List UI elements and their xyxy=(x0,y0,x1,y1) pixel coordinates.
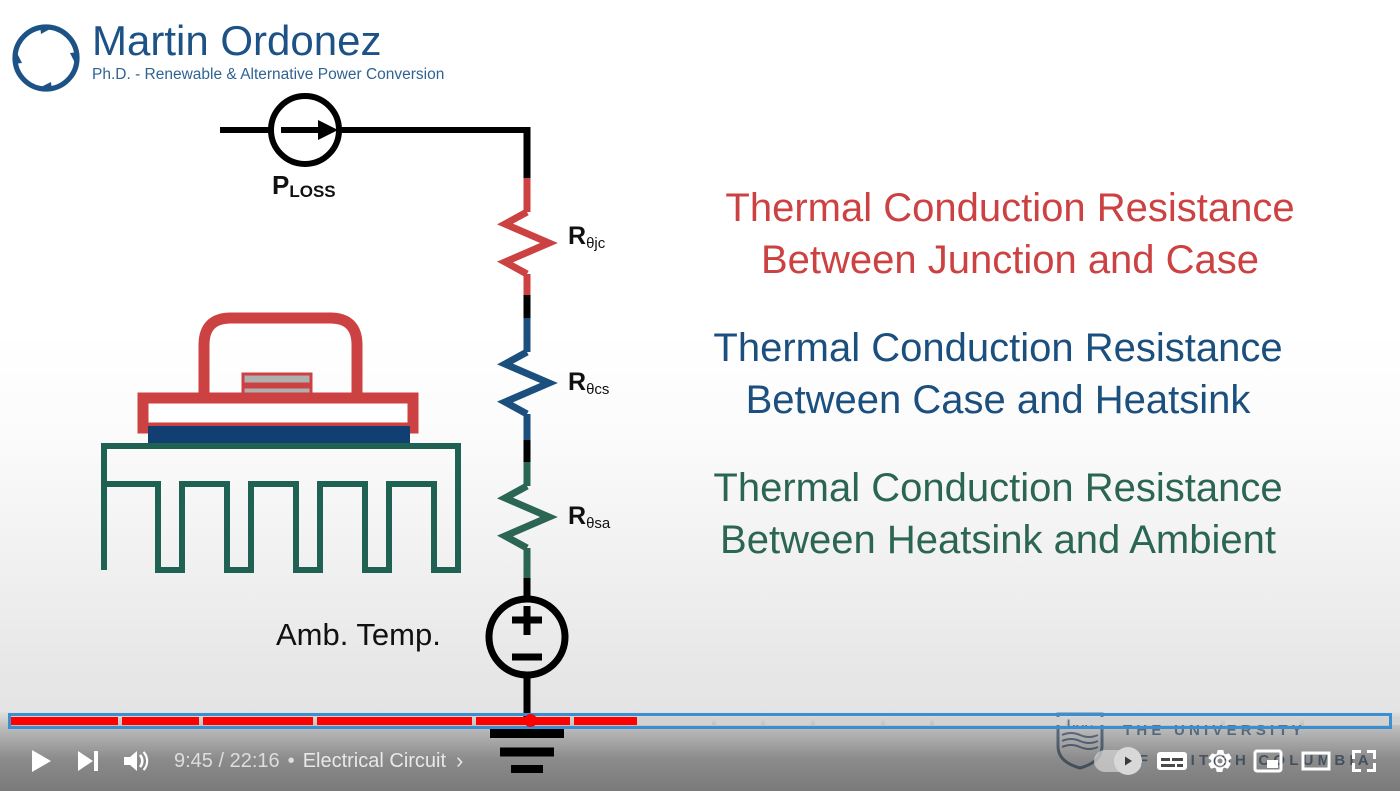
theater-icon xyxy=(1301,749,1331,773)
chapter-segment-fill xyxy=(574,717,637,725)
desc-sa-line2: Between Heatsink and Ambient xyxy=(668,514,1328,566)
resistor-rtheta-sa xyxy=(505,462,549,600)
fullscreen-icon xyxy=(1350,748,1378,774)
gear-icon xyxy=(1206,747,1234,775)
video-slide: Martin Ordonez Ph.D. - Renewable & Alter… xyxy=(0,0,1400,791)
rcs-subscript: θcs xyxy=(586,381,609,398)
rjc-symbol: R xyxy=(568,222,586,250)
resistor-label-rtheta-sa: Rθsa xyxy=(568,502,610,532)
right-controls xyxy=(1086,737,1388,785)
progress-scrubber-handle[interactable] xyxy=(524,714,537,727)
current-time: 9:45 xyxy=(174,750,213,773)
rsa-symbol: R xyxy=(568,502,586,530)
chapter-segment[interactable] xyxy=(203,717,313,725)
settings-button[interactable] xyxy=(1196,737,1244,785)
resistor-label-rtheta-cs: Rθcs xyxy=(568,368,609,398)
next-icon xyxy=(75,749,101,773)
chapter-segment[interactable] xyxy=(1225,717,1300,725)
power-loss-label: PLOSS xyxy=(272,170,336,202)
theater-button[interactable] xyxy=(1292,737,1340,785)
time-separator: • xyxy=(288,750,295,773)
desc-cs-line2: Between Case and Heatsink xyxy=(668,374,1328,426)
desc-jc-line1: Thermal Conduction Resistance xyxy=(725,186,1294,230)
description-heatsink-to-ambient: Thermal Conduction Resistance Between He… xyxy=(668,462,1328,566)
autoplay-track xyxy=(1094,750,1140,772)
subtitles-button[interactable] xyxy=(1148,737,1196,785)
total-time: 22:16 xyxy=(230,750,280,773)
power-loss-subscript: LOSS xyxy=(289,182,335,201)
chapter-segment[interactable] xyxy=(1070,717,1222,725)
play-button[interactable] xyxy=(16,737,64,785)
chapter-segment[interactable] xyxy=(1304,717,1400,725)
chapter-segment[interactable] xyxy=(765,717,811,725)
autoplay-toggle[interactable] xyxy=(1086,737,1148,785)
chapter-segment[interactable] xyxy=(317,717,472,725)
volume-button[interactable] xyxy=(112,737,160,785)
ambient-temperature-label: Amb. Temp. xyxy=(276,617,441,653)
power-loss-symbol: P xyxy=(272,170,289,200)
rjc-subscript: θjc xyxy=(586,235,605,252)
chapter-segment[interactable] xyxy=(815,717,881,725)
chapter-segment[interactable] xyxy=(885,717,931,725)
miniplayer-icon xyxy=(1253,748,1283,774)
chapter-title[interactable]: Electrical Circuit xyxy=(303,750,446,773)
chapter-segment[interactable] xyxy=(716,717,762,725)
ambient-voltage-source xyxy=(489,599,565,718)
chapter-segment[interactable] xyxy=(574,717,712,725)
progress-bar[interactable] xyxy=(0,711,1400,733)
rcs-symbol: R xyxy=(568,368,586,396)
chapter-segment[interactable] xyxy=(10,717,118,725)
rsa-subscript: θsa xyxy=(586,515,610,532)
volume-icon xyxy=(122,749,150,773)
autoplay-play-icon xyxy=(1122,755,1134,767)
left-controls: 9:45 / 22:16 • Electrical Circuit › xyxy=(16,737,463,785)
resistor-label-rtheta-jc: Rθjc xyxy=(568,222,605,252)
desc-cs-line1: Thermal Conduction Resistance xyxy=(713,326,1282,370)
chapter-segments[interactable] xyxy=(10,717,1390,725)
description-case-to-heatsink: Thermal Conduction Resistance Between Ca… xyxy=(668,322,1328,426)
desc-sa-line1: Thermal Conduction Resistance xyxy=(713,466,1282,510)
resistor-rtheta-jc xyxy=(505,178,549,318)
miniplayer-button[interactable] xyxy=(1244,737,1292,785)
device-heatsink-illustration xyxy=(104,318,458,570)
description-junction-to-case: Thermal Conduction Resistance Between Ju… xyxy=(680,182,1340,286)
chapter-segment-fill xyxy=(10,717,118,725)
chapter-segment[interactable] xyxy=(476,717,570,725)
chapter-segment-fill xyxy=(317,717,472,725)
play-icon xyxy=(27,748,53,774)
current-source-ploss xyxy=(220,96,528,180)
chapter-segment-fill xyxy=(203,717,313,725)
chapter-segment[interactable] xyxy=(934,717,1065,725)
chapter-segment-fill xyxy=(122,717,199,725)
subtitles-icon xyxy=(1156,749,1188,773)
autoplay-knob xyxy=(1114,747,1142,775)
next-video-button[interactable] xyxy=(64,737,112,785)
time-and-chapter: 9:45 / 22:16 • Electrical Circuit › xyxy=(174,748,463,774)
chapter-segment-fill xyxy=(476,717,570,725)
fullscreen-button[interactable] xyxy=(1340,737,1388,785)
resistor-rtheta-cs xyxy=(505,318,549,462)
video-player-controls: 9:45 / 22:16 • Electrical Circuit › xyxy=(0,711,1400,791)
desc-jc-line2: Between Junction and Case xyxy=(680,234,1340,286)
chapter-chevron-icon[interactable]: › xyxy=(456,748,463,774)
chapter-segment[interactable] xyxy=(122,717,199,725)
